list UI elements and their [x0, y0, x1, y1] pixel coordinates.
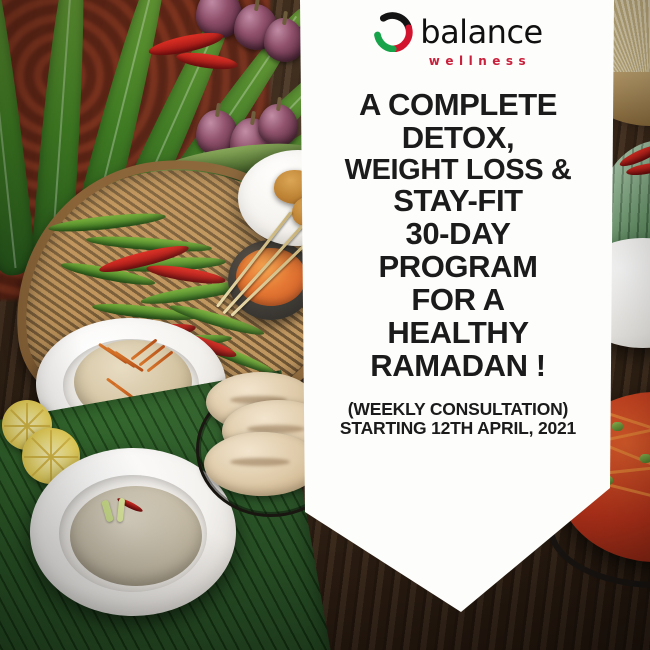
headline-line-4: STAY-FIT	[308, 185, 608, 218]
subheadline: (WEEKLY CONSULTATION) STARTING 12TH APRI…	[340, 400, 576, 439]
headline: A COMPLETE DETOX, WEIGHT LOSS & STAY-FIT…	[308, 89, 608, 383]
shallot	[258, 104, 298, 146]
headline-line-5: 30-DAY	[308, 218, 608, 251]
logo-row: balance	[373, 12, 542, 52]
herb-garnish	[640, 454, 650, 463]
brand-tagline: wellness	[429, 55, 531, 67]
headline-line-2: DETOX,	[308, 122, 608, 155]
brand-wordmark: balance	[420, 16, 542, 48]
banner-content: balance wellness A COMPLETE DETOX, WEIGH…	[300, 0, 616, 560]
start-date: STARTING 12TH APRIL, 2021	[340, 419, 576, 439]
headline-line-9: RAMADAN !	[308, 350, 608, 383]
headline-line-7: FOR A	[308, 284, 608, 317]
consultation-note: (WEEKLY CONSULTATION)	[340, 400, 576, 420]
shallot	[264, 18, 304, 62]
baba-ganoush-mound	[70, 486, 202, 586]
balance-swirl-logo-icon	[373, 12, 413, 52]
headline-line-1: A COMPLETE	[308, 89, 608, 122]
brand-logo[interactable]: balance wellness	[373, 12, 542, 67]
headline-line-6: PROGRAM	[308, 251, 608, 284]
headline-line-3: WEIGHT LOSS &	[308, 155, 608, 186]
headline-line-8: HEALTHY	[308, 317, 608, 350]
poster-canvas: balance wellness A COMPLETE DETOX, WEIGH…	[0, 0, 650, 650]
